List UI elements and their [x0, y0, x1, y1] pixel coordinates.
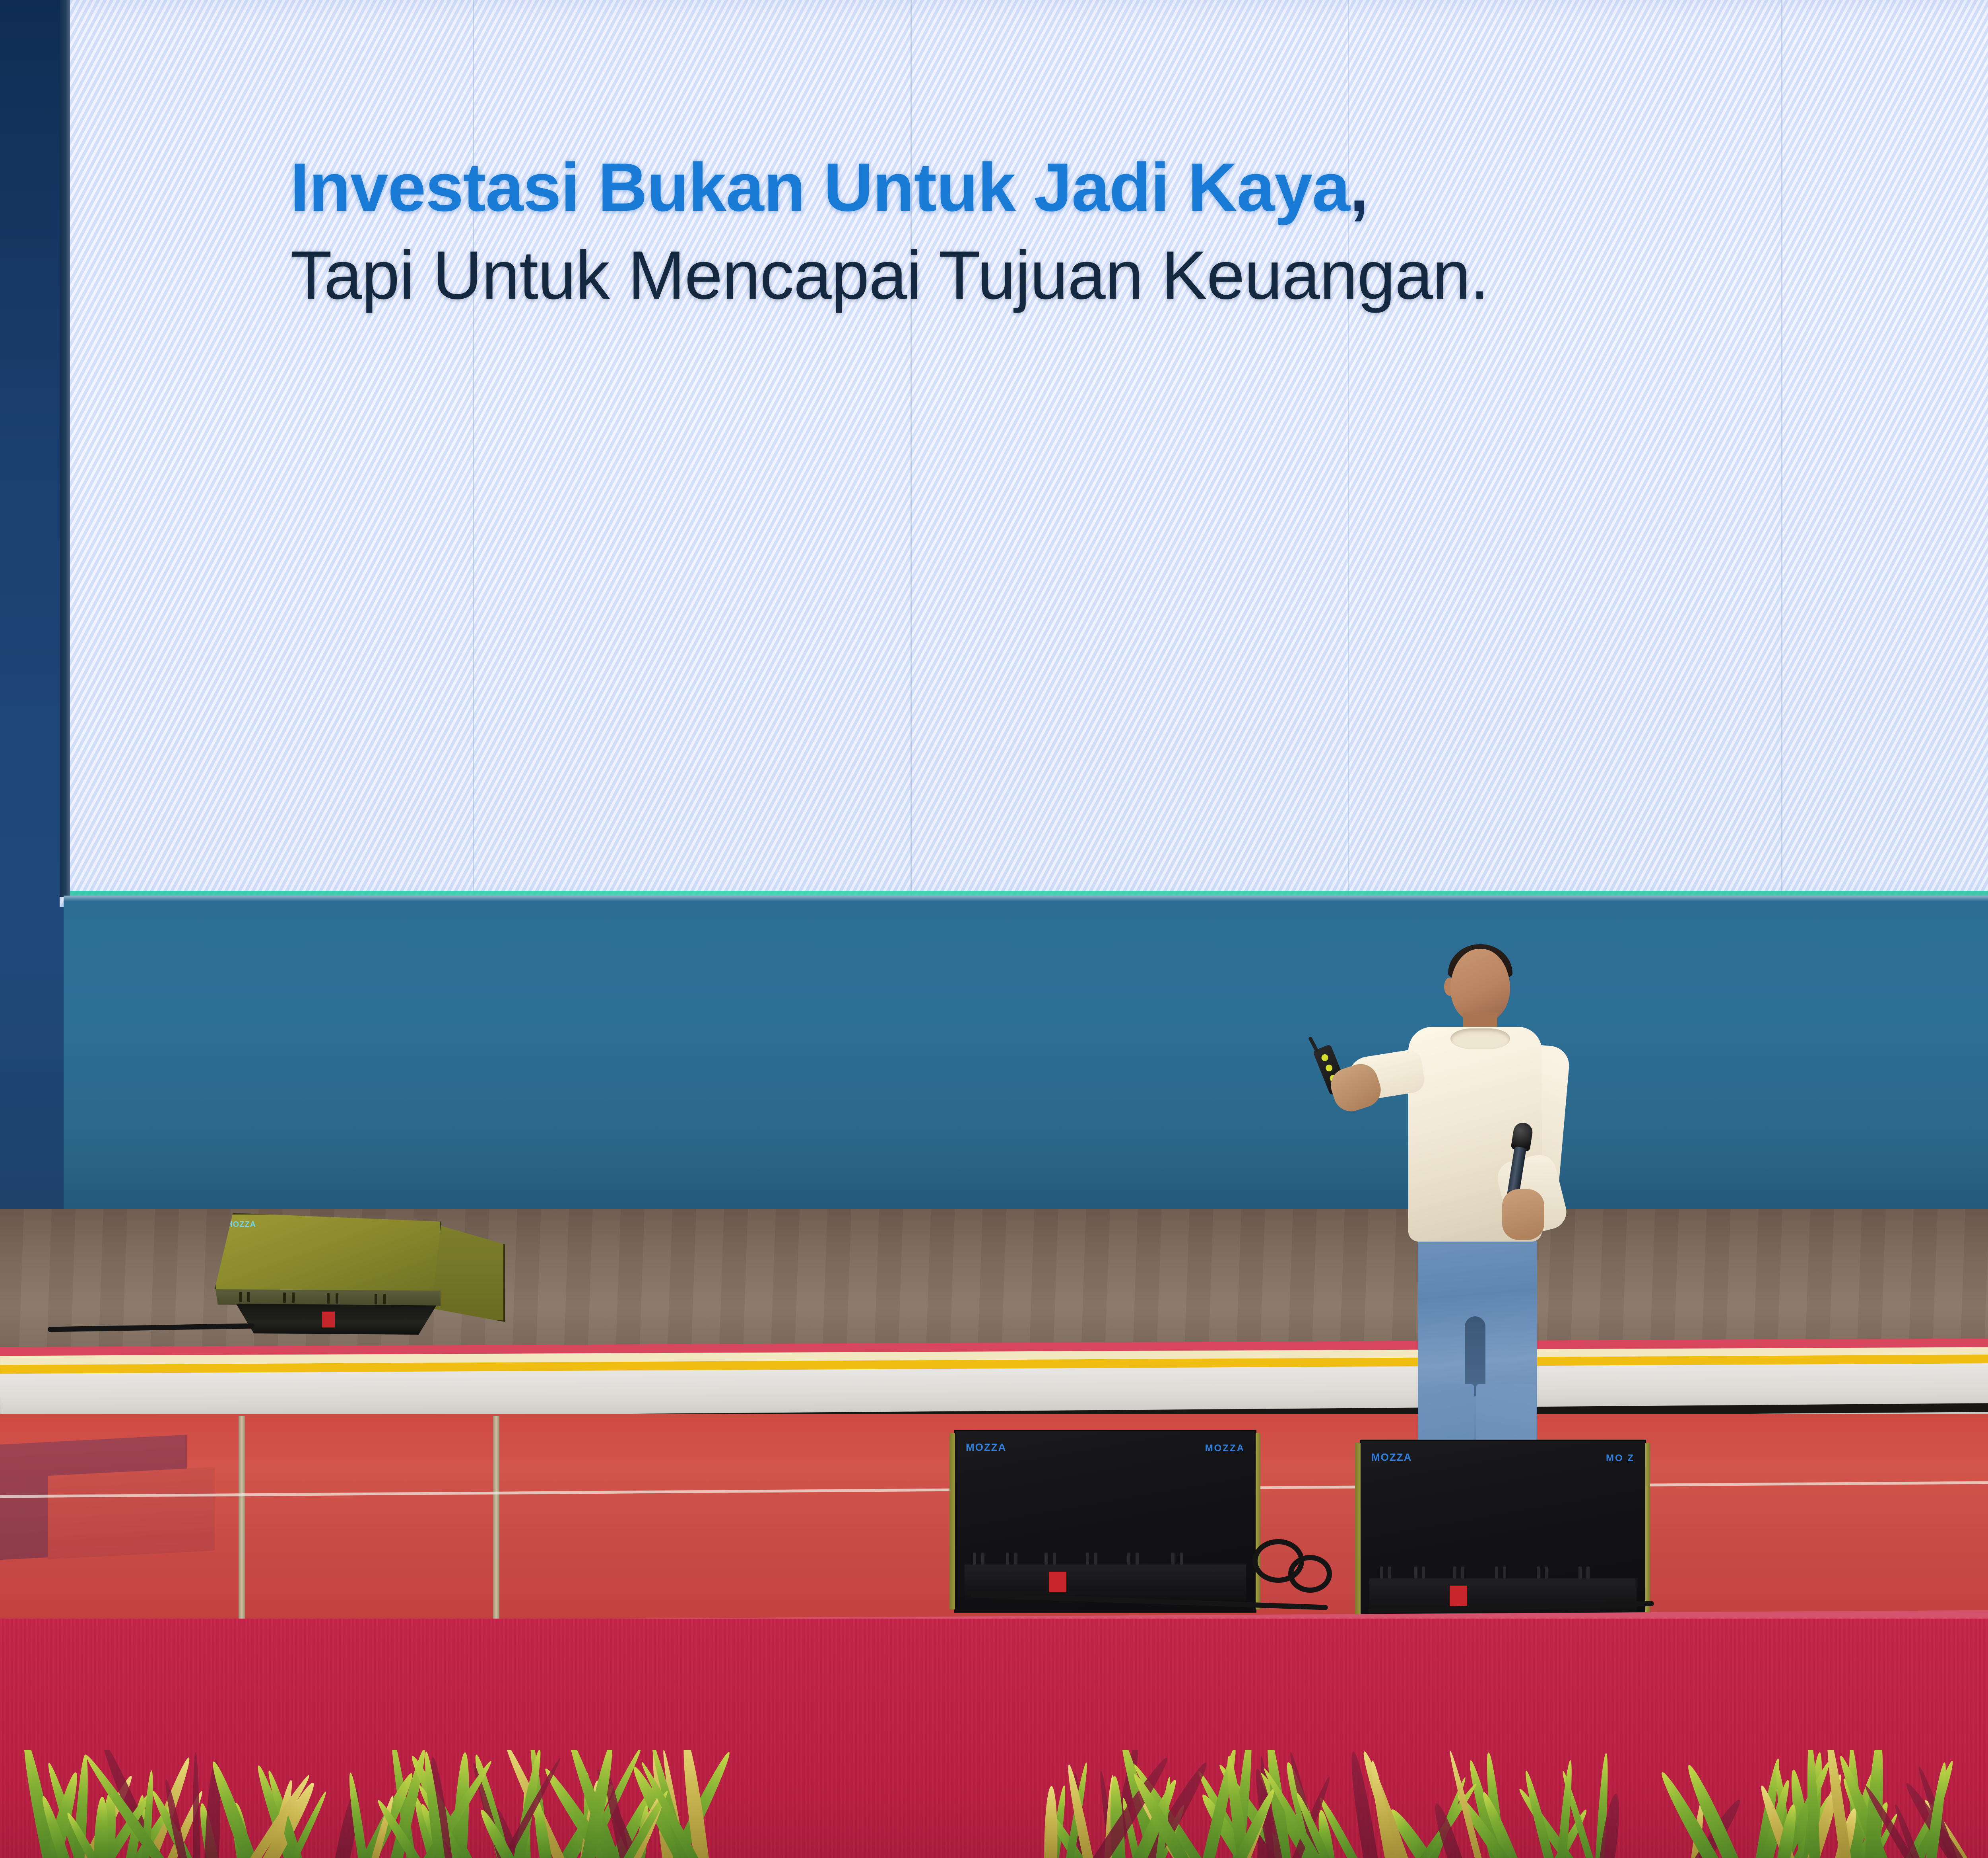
- backdrop-panel-left: [0, 0, 64, 1277]
- stage-skirt-highlight: [64, 896, 1988, 901]
- led-wall-bezel-left: [60, 0, 70, 897]
- stage-deck-seam: [239, 1416, 245, 1623]
- presenter-collar: [1450, 1028, 1510, 1049]
- monitor-edge-left: [949, 1433, 955, 1609]
- led-video-wall: [60, 0, 1988, 907]
- presenter-hand-left: [1502, 1189, 1544, 1240]
- wedge-top-face: MOZZA: [215, 1213, 441, 1300]
- led-panel-seam: [1348, 0, 1349, 899]
- monitor-io-warning-label: [1450, 1586, 1467, 1606]
- led-panel-seam: [1781, 0, 1782, 899]
- decorative-plant-row: [0, 1750, 1988, 1858]
- wedge-io-label-left: [322, 1312, 335, 1327]
- monitor-edge-right: [1256, 1433, 1260, 1609]
- monitor-rear-panel: MOZZA MOZZA: [954, 1430, 1256, 1613]
- stage-skirt-panel: [64, 896, 1988, 1214]
- monitor-brand-label-left: MOZZA: [966, 1441, 1006, 1454]
- plant-blade: [192, 1752, 200, 1858]
- plant-blade: [1521, 1769, 1554, 1858]
- monitor-brand-label-left: MOZZA: [1371, 1451, 1412, 1463]
- slide-headline-line1: Investasi Bukan Untuk Jadi Kaya,: [290, 147, 1988, 228]
- stage-deck-seam: [493, 1416, 499, 1623]
- monitor-io-warning-label: [1049, 1572, 1066, 1592]
- wedge-grille-left: [215, 1289, 441, 1306]
- monitor-brand-label-right: MOZZA: [1205, 1443, 1245, 1454]
- stage-confidence-monitor-right: MOZZA MO Z: [1360, 1440, 1646, 1627]
- monitor-rear-panel: MOZZA MO Z: [1360, 1440, 1646, 1627]
- monitor-edge-left: [1355, 1443, 1361, 1623]
- slide-headline-comma: ,: [1350, 149, 1369, 225]
- wedge-side-face: [429, 1222, 505, 1322]
- led-panel-seam: [911, 0, 912, 899]
- stage-step-left-lower: [48, 1467, 215, 1559]
- plant-blade: [1044, 1786, 1058, 1858]
- wedge-brand-label-left: MOZZA: [226, 1220, 256, 1229]
- cable-bundle: [1288, 1555, 1332, 1593]
- stage-presentation-photo: Investasi Bukan Untuk Jadi Kaya, Tapi Un…: [0, 0, 1988, 1858]
- led-panel-seam: [473, 0, 474, 899]
- wedge-base-left: [223, 1304, 445, 1335]
- monitor-edge-right: [1645, 1443, 1650, 1623]
- monitor-vents: [967, 1553, 1243, 1565]
- monitor-vents: [1373, 1566, 1634, 1578]
- slide-headline-line2: Tapi Untuk Mencapai Tujuan Keuangan.: [290, 235, 1988, 316]
- wedge-monitor-speaker-left: MOZZA: [207, 1205, 509, 1332]
- stage-confidence-monitor-left: MOZZA MOZZA: [954, 1430, 1256, 1613]
- slide-headline-line1-text: Investasi Bukan Untuk Jadi Kaya: [290, 149, 1350, 225]
- monitor-brand-label-right: MO Z: [1606, 1453, 1635, 1464]
- presenter-head: [1450, 949, 1510, 1023]
- slide-content: Investasi Bukan Untuk Jadi Kaya, Tapi Un…: [290, 147, 1988, 316]
